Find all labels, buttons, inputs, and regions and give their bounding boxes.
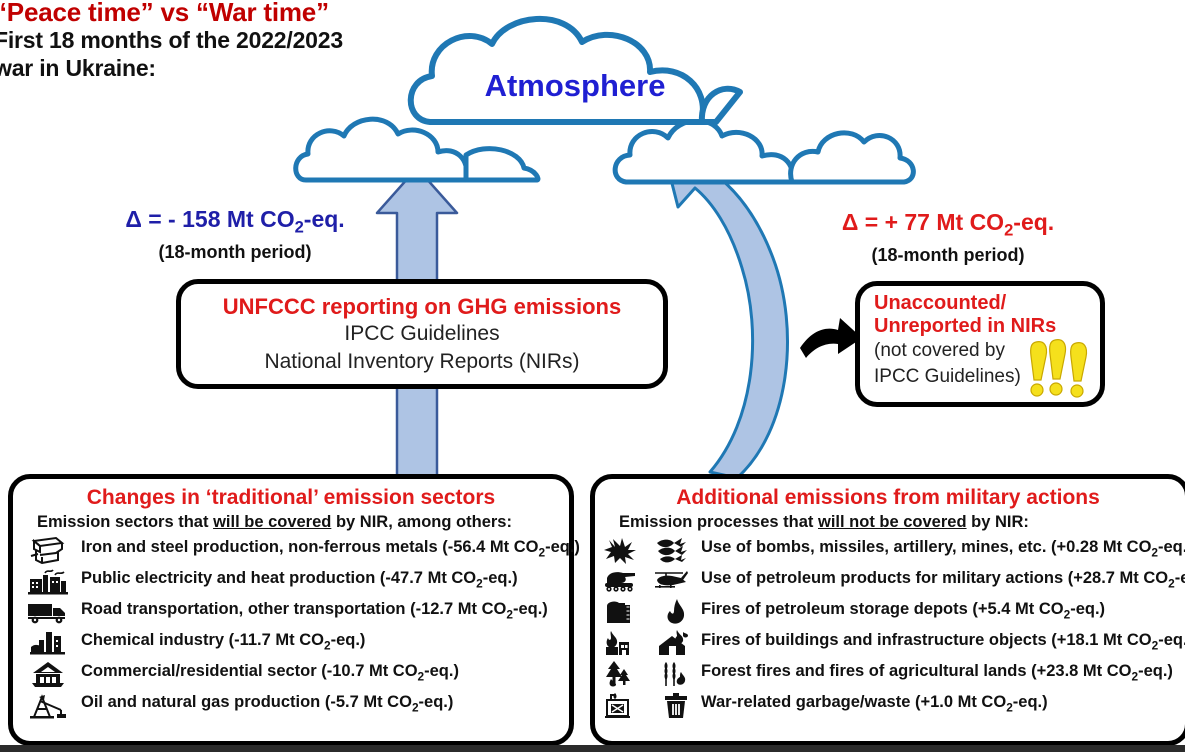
tank-icon	[603, 568, 639, 594]
infographic-canvas: “Peace time” vs “War time” First 18 mont…	[0, 0, 1185, 752]
oil-pump-icon	[28, 691, 68, 719]
helicopter-icon	[653, 568, 689, 594]
atmosphere-label: Atmosphere	[485, 68, 666, 103]
unaccounted-unreported-box: Unaccounted/ Unreported in NIRs (not cov…	[855, 281, 1105, 407]
garbage-container-icon	[603, 691, 633, 719]
list-item: Iron and steel production, non-ferrous m…	[21, 534, 561, 565]
unfccc-line-3: National Inventory Reports (NIRs)	[264, 348, 579, 376]
list-item: Use of bombs, missiles, artillery, mines…	[603, 534, 1185, 565]
list-item: Chemical industry (-11.7 Mt CO2-eq.)	[21, 627, 561, 658]
right-panel-title: Additional emissions from military actio…	[603, 485, 1185, 511]
curved-arrow-icon	[663, 148, 787, 478]
truck-icon	[26, 600, 70, 624]
list-item-label: Fires of buildings and infrastructure ob…	[701, 630, 1185, 655]
delta-left-period: (18-month period)	[72, 241, 398, 263]
exclamation-marks-icon	[1028, 338, 1094, 400]
right-panel-items: Use of bombs, missiles, artillery, mines…	[603, 534, 1185, 720]
flame-icon	[663, 598, 689, 626]
list-item-label: Iron and steel production, non-ferrous m…	[81, 537, 580, 562]
list-item: Fires of petroleum storage depots (+5.4 …	[603, 596, 1185, 627]
unfccc-line-2: IPCC Guidelines	[344, 320, 499, 348]
list-item: Use of petroleum products for military a…	[603, 565, 1185, 596]
list-item: Commercial/residential sector (-10.7 Mt …	[21, 658, 561, 689]
list-item-label: Use of bombs, missiles, artillery, mines…	[701, 537, 1185, 562]
traditional-sectors-panel: Changes in ‘traditional’ emission sector…	[8, 474, 574, 746]
delta-right-period: (18-month period)	[788, 244, 1108, 266]
black-arrow-right-icon	[800, 318, 862, 358]
list-item-label: Fires of petroleum storage depots (+5.4 …	[701, 599, 1105, 624]
falling-bombs-icon	[655, 536, 689, 564]
delta-left: Δ = - 158 Mt CO2-eq. (18-month period)	[72, 206, 398, 263]
bottom-band	[0, 745, 1185, 752]
military-emissions-panel: Additional emissions from military actio…	[590, 474, 1185, 746]
list-item-label: Forest fires and fires of agricultural l…	[701, 661, 1173, 686]
storage-tank-icon	[603, 598, 633, 626]
left-panel-title: Changes in ‘traditional’ emission sector…	[21, 485, 561, 511]
unfccc-reporting-box: UNFCCC reporting on GHG emissions IPCC G…	[176, 279, 668, 389]
chemical-plant-icon	[29, 629, 67, 657]
burning-forest-icon	[603, 660, 633, 688]
left-panel-items: Iron and steel production, non-ferrous m…	[21, 534, 561, 720]
delta-left-value: Δ = - 158 Mt CO2-eq.	[72, 206, 398, 241]
list-item: War-related garbage/waste (+1.0 Mt CO2-e…	[603, 689, 1185, 720]
burning-wheat-icon	[659, 660, 689, 688]
list-item: Forest fires and fires of agricultural l…	[603, 658, 1185, 689]
list-item-label: Chemical industry (-11.7 Mt CO2-eq.)	[81, 630, 365, 655]
list-item-label: Commercial/residential sector (-10.7 Mt …	[81, 661, 459, 686]
list-item: Fires of buildings and infrastructure ob…	[603, 627, 1185, 658]
unaccounted-title-line-1: Unaccounted/	[874, 292, 1090, 315]
list-item-label: Public electricity and heat production (…	[81, 568, 518, 593]
factory-icon	[27, 567, 69, 595]
burning-house-icon	[657, 629, 689, 657]
burning-factory-icon	[603, 629, 633, 657]
list-item: Public electricity and heat production (…	[21, 565, 561, 596]
cloud-right-icon	[615, 120, 913, 182]
explosion-icon	[603, 536, 637, 564]
steel-beam-icon	[28, 536, 68, 564]
list-item-label: Road transportation, other transportatio…	[81, 599, 548, 624]
trash-bin-icon	[663, 691, 689, 719]
list-item-label: Oil and natural gas production (-5.7 Mt …	[81, 692, 453, 717]
list-item: Road transportation, other transportatio…	[21, 596, 561, 627]
list-item: Oil and natural gas production (-5.7 Mt …	[21, 689, 561, 720]
unaccounted-title-line-2: Unreported in NIRs	[874, 315, 1090, 338]
list-item-label: War-related garbage/waste (+1.0 Mt CO2-e…	[701, 692, 1048, 717]
list-item-label: Use of petroleum products for military a…	[701, 568, 1185, 593]
cloud-left-icon	[296, 119, 538, 180]
unfccc-title: UNFCCC reporting on GHG emissions	[223, 293, 621, 320]
building-icon	[31, 660, 65, 688]
right-panel-subtitle: Emission processes that will not be cove…	[603, 511, 1185, 533]
left-panel-subtitle: Emission sectors that will be covered by…	[21, 511, 561, 533]
delta-right-value: Δ = + 77 Mt CO2-eq.	[788, 209, 1108, 244]
delta-right: Δ = + 77 Mt CO2-eq. (18-month period)	[788, 209, 1108, 266]
